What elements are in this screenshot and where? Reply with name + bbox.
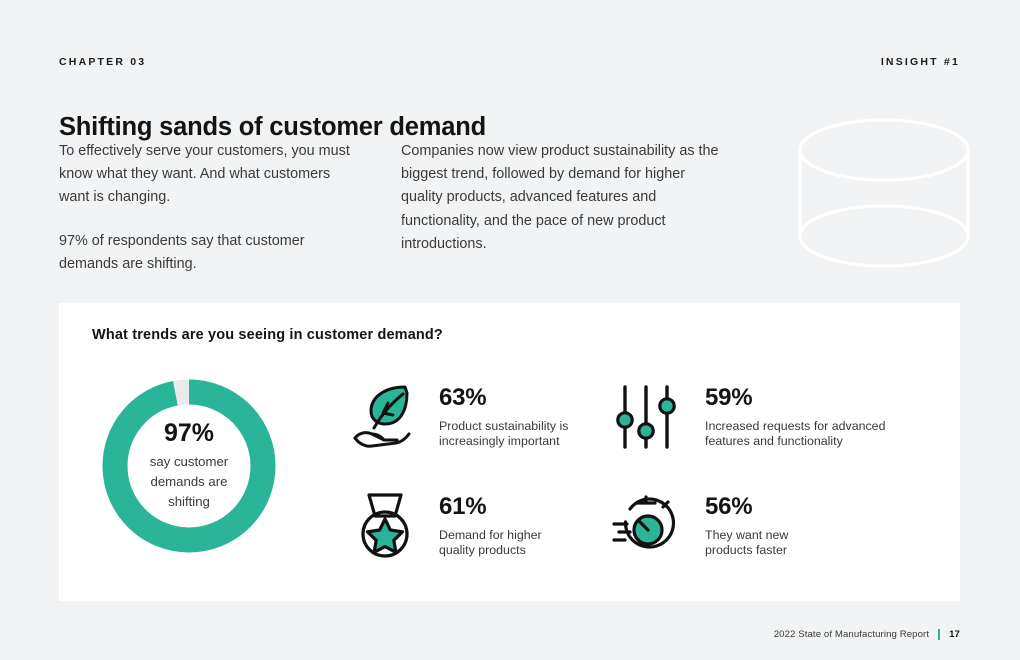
page-number: 17 (949, 629, 960, 640)
stat-description-line: quality products (439, 543, 542, 558)
page-title: Shifting sands of customer demand (59, 113, 486, 142)
stat-description: Demand for higher quality products (439, 528, 542, 558)
insight-card: What trends are you seeing in customer d… (59, 303, 960, 601)
sliders-icon (610, 381, 682, 453)
donut-chart: 97% say customer demands are shifting (98, 375, 280, 557)
stat-description-line: increasingly important (439, 434, 568, 449)
stat-description: They want new products faster (705, 528, 788, 558)
footer-divider (938, 629, 940, 640)
stat-percent: 56% (705, 494, 788, 519)
card-title: What trends are you seeing in customer d… (92, 327, 443, 343)
wireframe-cylinder-icon (796, 118, 972, 268)
stat-item-quality-products: 61% Demand for higher quality products (349, 490, 542, 562)
intro-paragraph: To effectively serve your customers, you… (59, 140, 359, 210)
donut-caption: say customer demands are shifting (129, 452, 249, 512)
chapter-label: CHAPTER 03 (59, 56, 146, 68)
stat-percent: 63% (439, 385, 568, 410)
donut-center-text: 97% say customer demands are shifting (98, 375, 280, 557)
stat-description: Product sustainability is increasingly i… (439, 419, 568, 449)
intro-column-right: Companies now view product sustainabilit… (401, 140, 721, 256)
intro-paragraph: 97% of respondents say that customer dem… (59, 230, 359, 276)
stat-description-line: features and functionality (705, 434, 885, 449)
footer: 2022 State of Manufacturing Report 17 (774, 629, 960, 640)
stat-description-line: Demand for higher (439, 528, 542, 543)
donut-percent: 97% (164, 420, 214, 448)
stat-text: 61% Demand for higher quality products (439, 490, 542, 558)
stat-percent: 59% (705, 385, 885, 410)
stat-text: 59% Increased requests for advanced feat… (705, 381, 885, 449)
leaf-in-hand-icon (349, 381, 421, 453)
stat-text: 56% They want new products faster (705, 490, 788, 558)
footer-report-name: 2022 State of Manufacturing Report (774, 629, 929, 640)
stat-item-sustainability: 63% Product sustainability is increasing… (349, 381, 568, 453)
stat-description-line: products faster (705, 543, 788, 558)
stat-description: Increased requests for advanced features… (705, 419, 885, 449)
stat-description-line: Increased requests for advanced (705, 419, 885, 434)
stat-text: 63% Product sustainability is increasing… (439, 381, 568, 449)
medal-icon (349, 490, 421, 562)
stat-percent: 61% (439, 494, 542, 519)
stopwatch-icon (610, 490, 682, 562)
intro-column-left: To effectively serve your customers, you… (59, 140, 359, 276)
stat-item-faster-products: 56% They want new products faster (610, 490, 788, 562)
insight-label: INSIGHT #1 (881, 56, 960, 68)
stat-item-advanced-features: 59% Increased requests for advanced feat… (610, 381, 885, 453)
stat-description-line: They want new (705, 528, 788, 543)
stat-description-line: Product sustainability is (439, 419, 568, 434)
intro-paragraph: Companies now view product sustainabilit… (401, 140, 721, 256)
